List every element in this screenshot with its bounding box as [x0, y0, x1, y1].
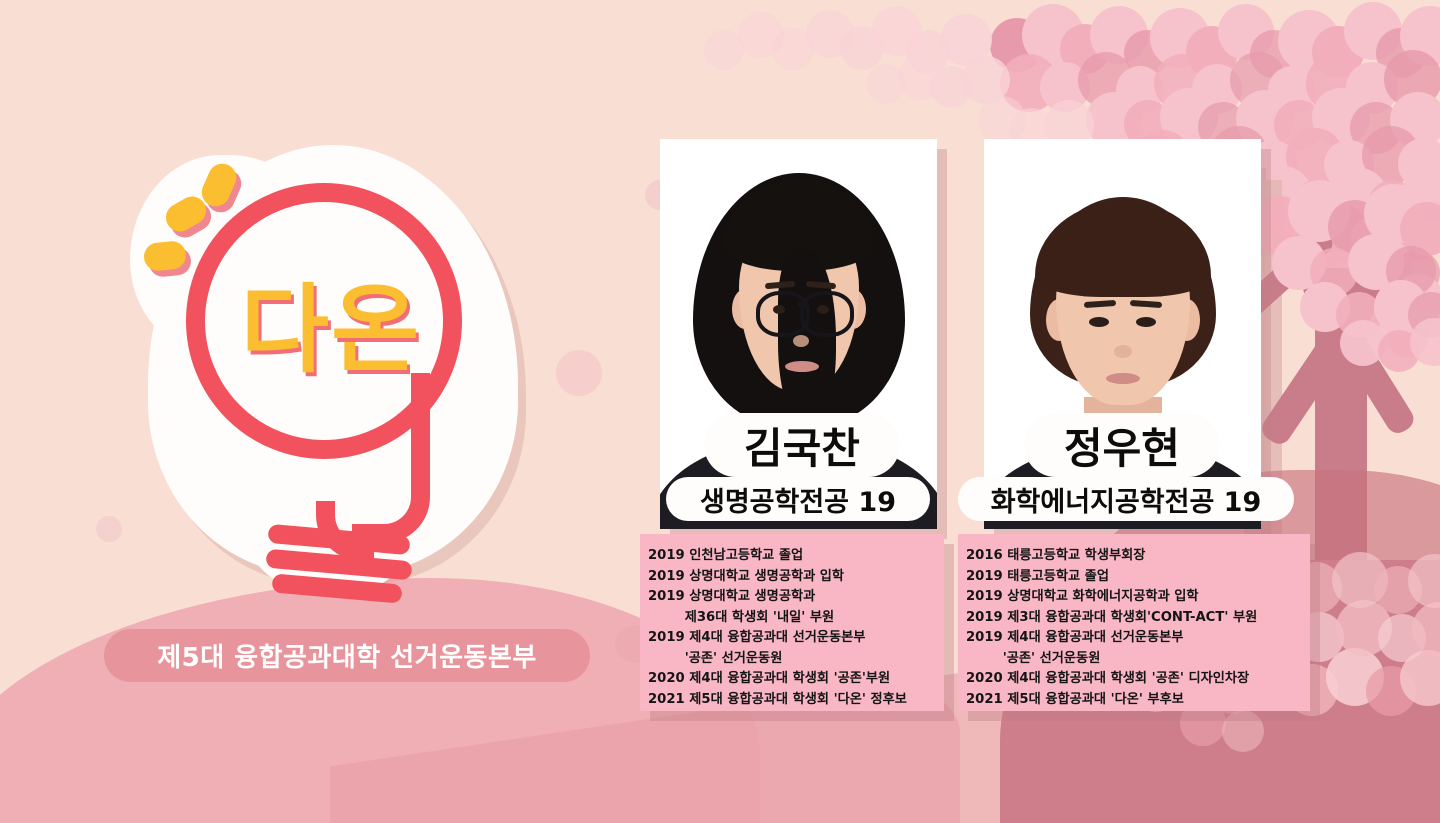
petal-scatter-1 [556, 350, 602, 396]
career-line: 2019 제3대 융합공과대 학생회'CONT-ACT' 부원 [966, 608, 1310, 629]
blossom-petal [866, 64, 906, 104]
career-line: 2019 상명대학교 생명공학과 [648, 587, 944, 608]
candidate-1-name-pill: 김국찬 [704, 413, 900, 477]
blossom-petal [704, 30, 744, 70]
career-line: 2019 상명대학교 생명공학과 입학 [648, 567, 944, 588]
blossom-petal [978, 96, 1026, 144]
candidate-1-major: 생명공학전공 19 [700, 480, 896, 519]
candidate-1-mouth [785, 361, 819, 372]
career-line: 제36대 학생회 '내일' 부원 [648, 608, 944, 629]
career-line: 2020 제4대 융합공과대 학생회 '공존'부원 [648, 669, 944, 690]
candidate-2-mouth [1106, 373, 1140, 384]
career-line: 2021 제5대 융합공과대 '다온' 부후보 [966, 690, 1310, 711]
campaign-banner-label: 제5대 융합공과대학 선거운동본부 [157, 637, 537, 674]
career-line: 2021 제5대 융합공과대 학생회 '다온' 정후보 [648, 690, 944, 711]
candidate-2-name: 정우현 [1064, 415, 1180, 476]
daon-logo: 다온 [120, 135, 560, 595]
career-line: 2019 제4대 융합공과대 선거운동본부 [966, 628, 1310, 649]
candidate-1-nose [793, 335, 809, 347]
candidate-2-nose [1114, 345, 1132, 358]
career-line: 2020 제4대 융합공과대 학생회 '공존' 디자인차장 [966, 669, 1310, 690]
blossom-petal [738, 12, 784, 58]
blossom-petal [1222, 710, 1264, 752]
career-line: 2019 상명대학교 화학에너지공학과 입학 [966, 587, 1310, 608]
candidate-2-eye-left [1089, 317, 1109, 327]
candidate-2-eye-right [1136, 317, 1156, 327]
candidate-1-glasses-bridge [798, 302, 806, 306]
candidate-1-name: 김국찬 [744, 415, 860, 476]
career-line: 2019 인천남고등학교 졸업 [648, 546, 944, 567]
career-line: 2016 태릉고등학교 학생부회장 [966, 546, 1310, 567]
career-line: 2019 제4대 융합공과대 선거운동본부 [648, 628, 944, 649]
candidate-1-major-pill: 생명공학전공 19 [666, 477, 930, 521]
petal-scatter-3 [96, 516, 122, 542]
career-line: '공존' 선거운동원 [648, 649, 944, 670]
candidate-1-eye-right [817, 305, 829, 314]
candidate-1-eye-left [773, 305, 785, 314]
election-poster: 다온 제5대 융합공과대학 선거운동본부 [0, 0, 1440, 823]
career-line: '공존' 선거운동원 [966, 649, 1310, 670]
candidate-1-glasses-right-lens [800, 291, 854, 337]
career-line: 2019 태릉고등학교 졸업 [966, 567, 1310, 588]
candidate-2-major-pill: 화학에너지공학전공 19 [958, 477, 1294, 521]
logo-wordmark: 다온 [196, 275, 466, 385]
candidate-2-name-pill: 정우현 [1024, 413, 1220, 477]
candidate-1-career-box: 2019 인천남고등학교 졸업2019 상명대학교 생명공학과 입학2019 상… [640, 534, 944, 711]
candidate-2-career-box: 2016 태릉고등학교 학생부회장2019 태릉고등학교 졸업2019 상명대학… [958, 534, 1310, 711]
candidate-2-major: 화학에너지공학전공 19 [991, 480, 1262, 519]
campaign-banner: 제5대 융합공과대학 선거운동본부 [104, 629, 590, 682]
